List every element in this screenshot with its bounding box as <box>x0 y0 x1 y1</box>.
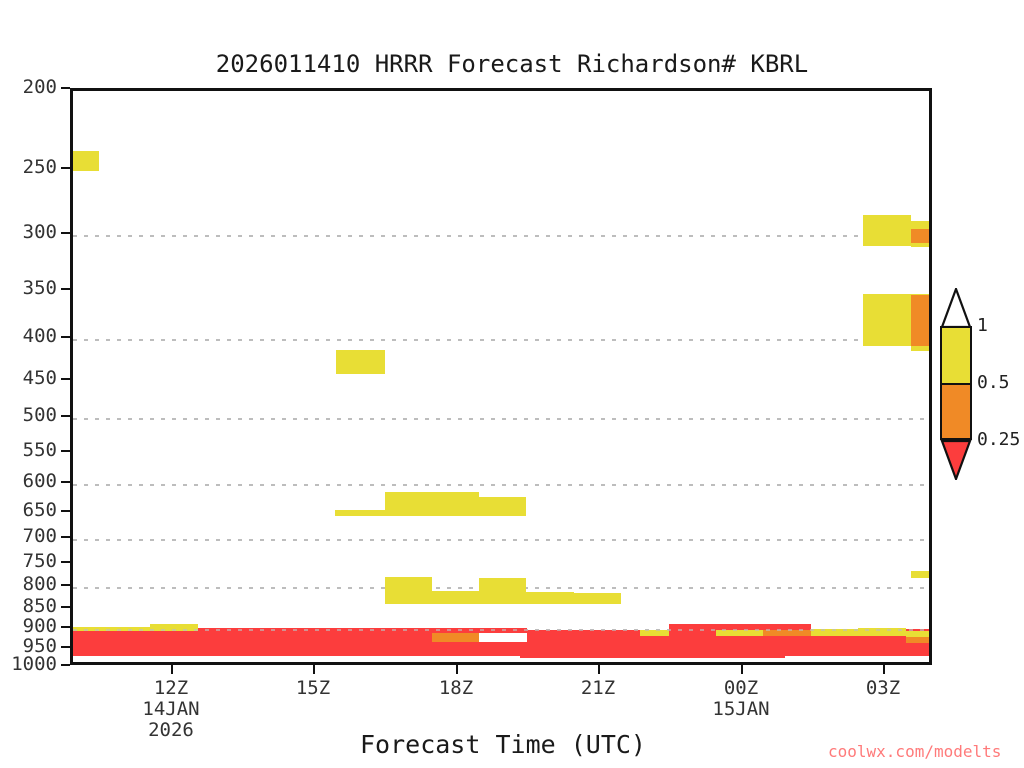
plot-canvas <box>73 91 929 662</box>
y-tick-label-200: 200 <box>0 78 57 97</box>
y-tick-mark-450 <box>61 378 70 380</box>
data-cell-orange-380hPa-edge <box>911 295 932 346</box>
data-cell-yellow-845hPa-e <box>574 593 621 604</box>
x-tick-mark-15Z <box>313 665 315 674</box>
x-tick-label-00Z: 00Z 15JAN <box>671 678 811 720</box>
y-tick-mark-200 <box>61 87 70 89</box>
gridline-400 <box>73 339 929 341</box>
data-cell-white-strip-985hPa-a <box>73 656 520 661</box>
chart-root: 2026011410 HRRR Forecast Richardson# KBR… <box>0 0 1024 768</box>
y-tick-mark-850 <box>61 606 70 608</box>
y-tick-label-300: 300 <box>0 223 57 242</box>
y-tick-label-650: 650 <box>0 501 57 520</box>
y-tick-label-800: 800 <box>0 575 57 594</box>
y-tick-mark-650 <box>61 510 70 512</box>
y-tick-label-250: 250 <box>0 158 57 177</box>
y-tick-label-400: 400 <box>0 327 57 346</box>
colorbar-segment-yellow <box>940 326 972 383</box>
colorbar-tick-label-1: 1 <box>977 317 988 335</box>
data-cell-yellow-640hPa-a <box>385 492 479 516</box>
x-tick-mark-00Z <box>741 665 743 674</box>
colorbar-arrow-up <box>940 288 972 328</box>
y-tick-mark-950 <box>61 646 70 648</box>
x-tick-label-15Z: 15Z <box>243 678 383 699</box>
data-cell-yellow-822hPa-c <box>479 578 526 604</box>
y-tick-label-500: 500 <box>0 406 57 425</box>
y-tick-label-900: 900 <box>0 617 57 636</box>
watermark: coolwx.com/modelts <box>828 742 1001 761</box>
y-tick-label-350: 350 <box>0 279 57 298</box>
y-tick-label-700: 700 <box>0 527 57 546</box>
data-cell-yellow-843hPa-d <box>526 592 574 604</box>
colorbar-segment-orange <box>940 383 972 440</box>
y-tick-label-750: 750 <box>0 552 57 571</box>
colorbar-tick-label-0-25: 0.25 <box>977 431 1020 449</box>
x-tick-mark-03Z <box>883 665 885 674</box>
y-tick-mark-600 <box>61 481 70 483</box>
x-tick-mark-21Z <box>598 665 600 674</box>
y-tick-mark-300 <box>61 232 70 234</box>
data-cell-yellow-250hPa-left <box>73 151 99 171</box>
y-tick-label-600: 600 <box>0 472 57 491</box>
terrain-fill <box>73 663 929 665</box>
y-tick-mark-700 <box>61 536 70 538</box>
gridline-600 <box>73 484 929 486</box>
data-cell-white-strip-985hPa-b <box>520 658 785 661</box>
y-tick-label-450: 450 <box>0 369 57 388</box>
data-cell-yellow-840hPa-b <box>432 591 479 604</box>
y-tick-label-550: 550 <box>0 441 57 460</box>
data-cell-yellow-300hPa-right <box>863 215 911 246</box>
y-tick-mark-750 <box>61 561 70 563</box>
data-cell-white-strip-985hPa-c <box>785 656 932 661</box>
y-tick-mark-400 <box>61 336 70 338</box>
y-tick-mark-550 <box>61 450 70 452</box>
gridline-overlay-900 <box>73 629 929 631</box>
y-tick-mark-1000 <box>61 664 70 666</box>
x-tick-mark-18Z <box>456 665 458 674</box>
colorbar-arrow-down <box>940 440 972 480</box>
x-tick-label-21Z: 21Z <box>528 678 668 699</box>
plot-area <box>70 88 932 665</box>
data-cell-orange-940hPa-n <box>906 637 932 643</box>
x-tick-mark-12Z <box>171 665 173 674</box>
data-cell-yellow-375hPa-right <box>863 294 911 346</box>
data-cell-yellow-655hPa-sliver <box>335 510 385 516</box>
data-cell-yellow-430hPa-mid <box>336 350 385 374</box>
colorbar-tick-label-0-5: 0.5 <box>977 374 1010 392</box>
x-tick-label-03Z: 03Z <box>813 678 953 699</box>
x-axis-title: Forecast Time (UTC) <box>360 730 646 759</box>
page-title: 2026011410 HRRR Forecast Richardson# KBR… <box>0 50 1024 78</box>
y-tick-mark-800 <box>61 584 70 586</box>
data-cell-orange-300hPa-edge <box>911 229 932 243</box>
gridline-700 <box>73 539 929 541</box>
y-tick-label-850: 850 <box>0 597 57 616</box>
data-cell-yellow-650hPa-b <box>479 497 526 516</box>
data-cell-yellow-780hPa-edge <box>911 571 932 578</box>
y-tick-mark-500 <box>61 415 70 417</box>
data-cell-white-gap-950hPa <box>479 633 527 642</box>
y-tick-label-1000: 1000 <box>0 655 57 674</box>
y-tick-mark-350 <box>61 288 70 290</box>
x-tick-label-18Z: 18Z <box>386 678 526 699</box>
y-tick-mark-250 <box>61 167 70 169</box>
x-tick-label-12Z: 12Z 14JAN 2026 <box>101 678 241 741</box>
data-cell-orange-945hPa-a <box>432 633 479 642</box>
y-tick-mark-900 <box>61 626 70 628</box>
colorbar <box>940 288 972 478</box>
data-cell-yellow-820hPa-a <box>385 577 432 604</box>
gridline-300 <box>73 235 929 237</box>
gridline-500 <box>73 418 929 420</box>
